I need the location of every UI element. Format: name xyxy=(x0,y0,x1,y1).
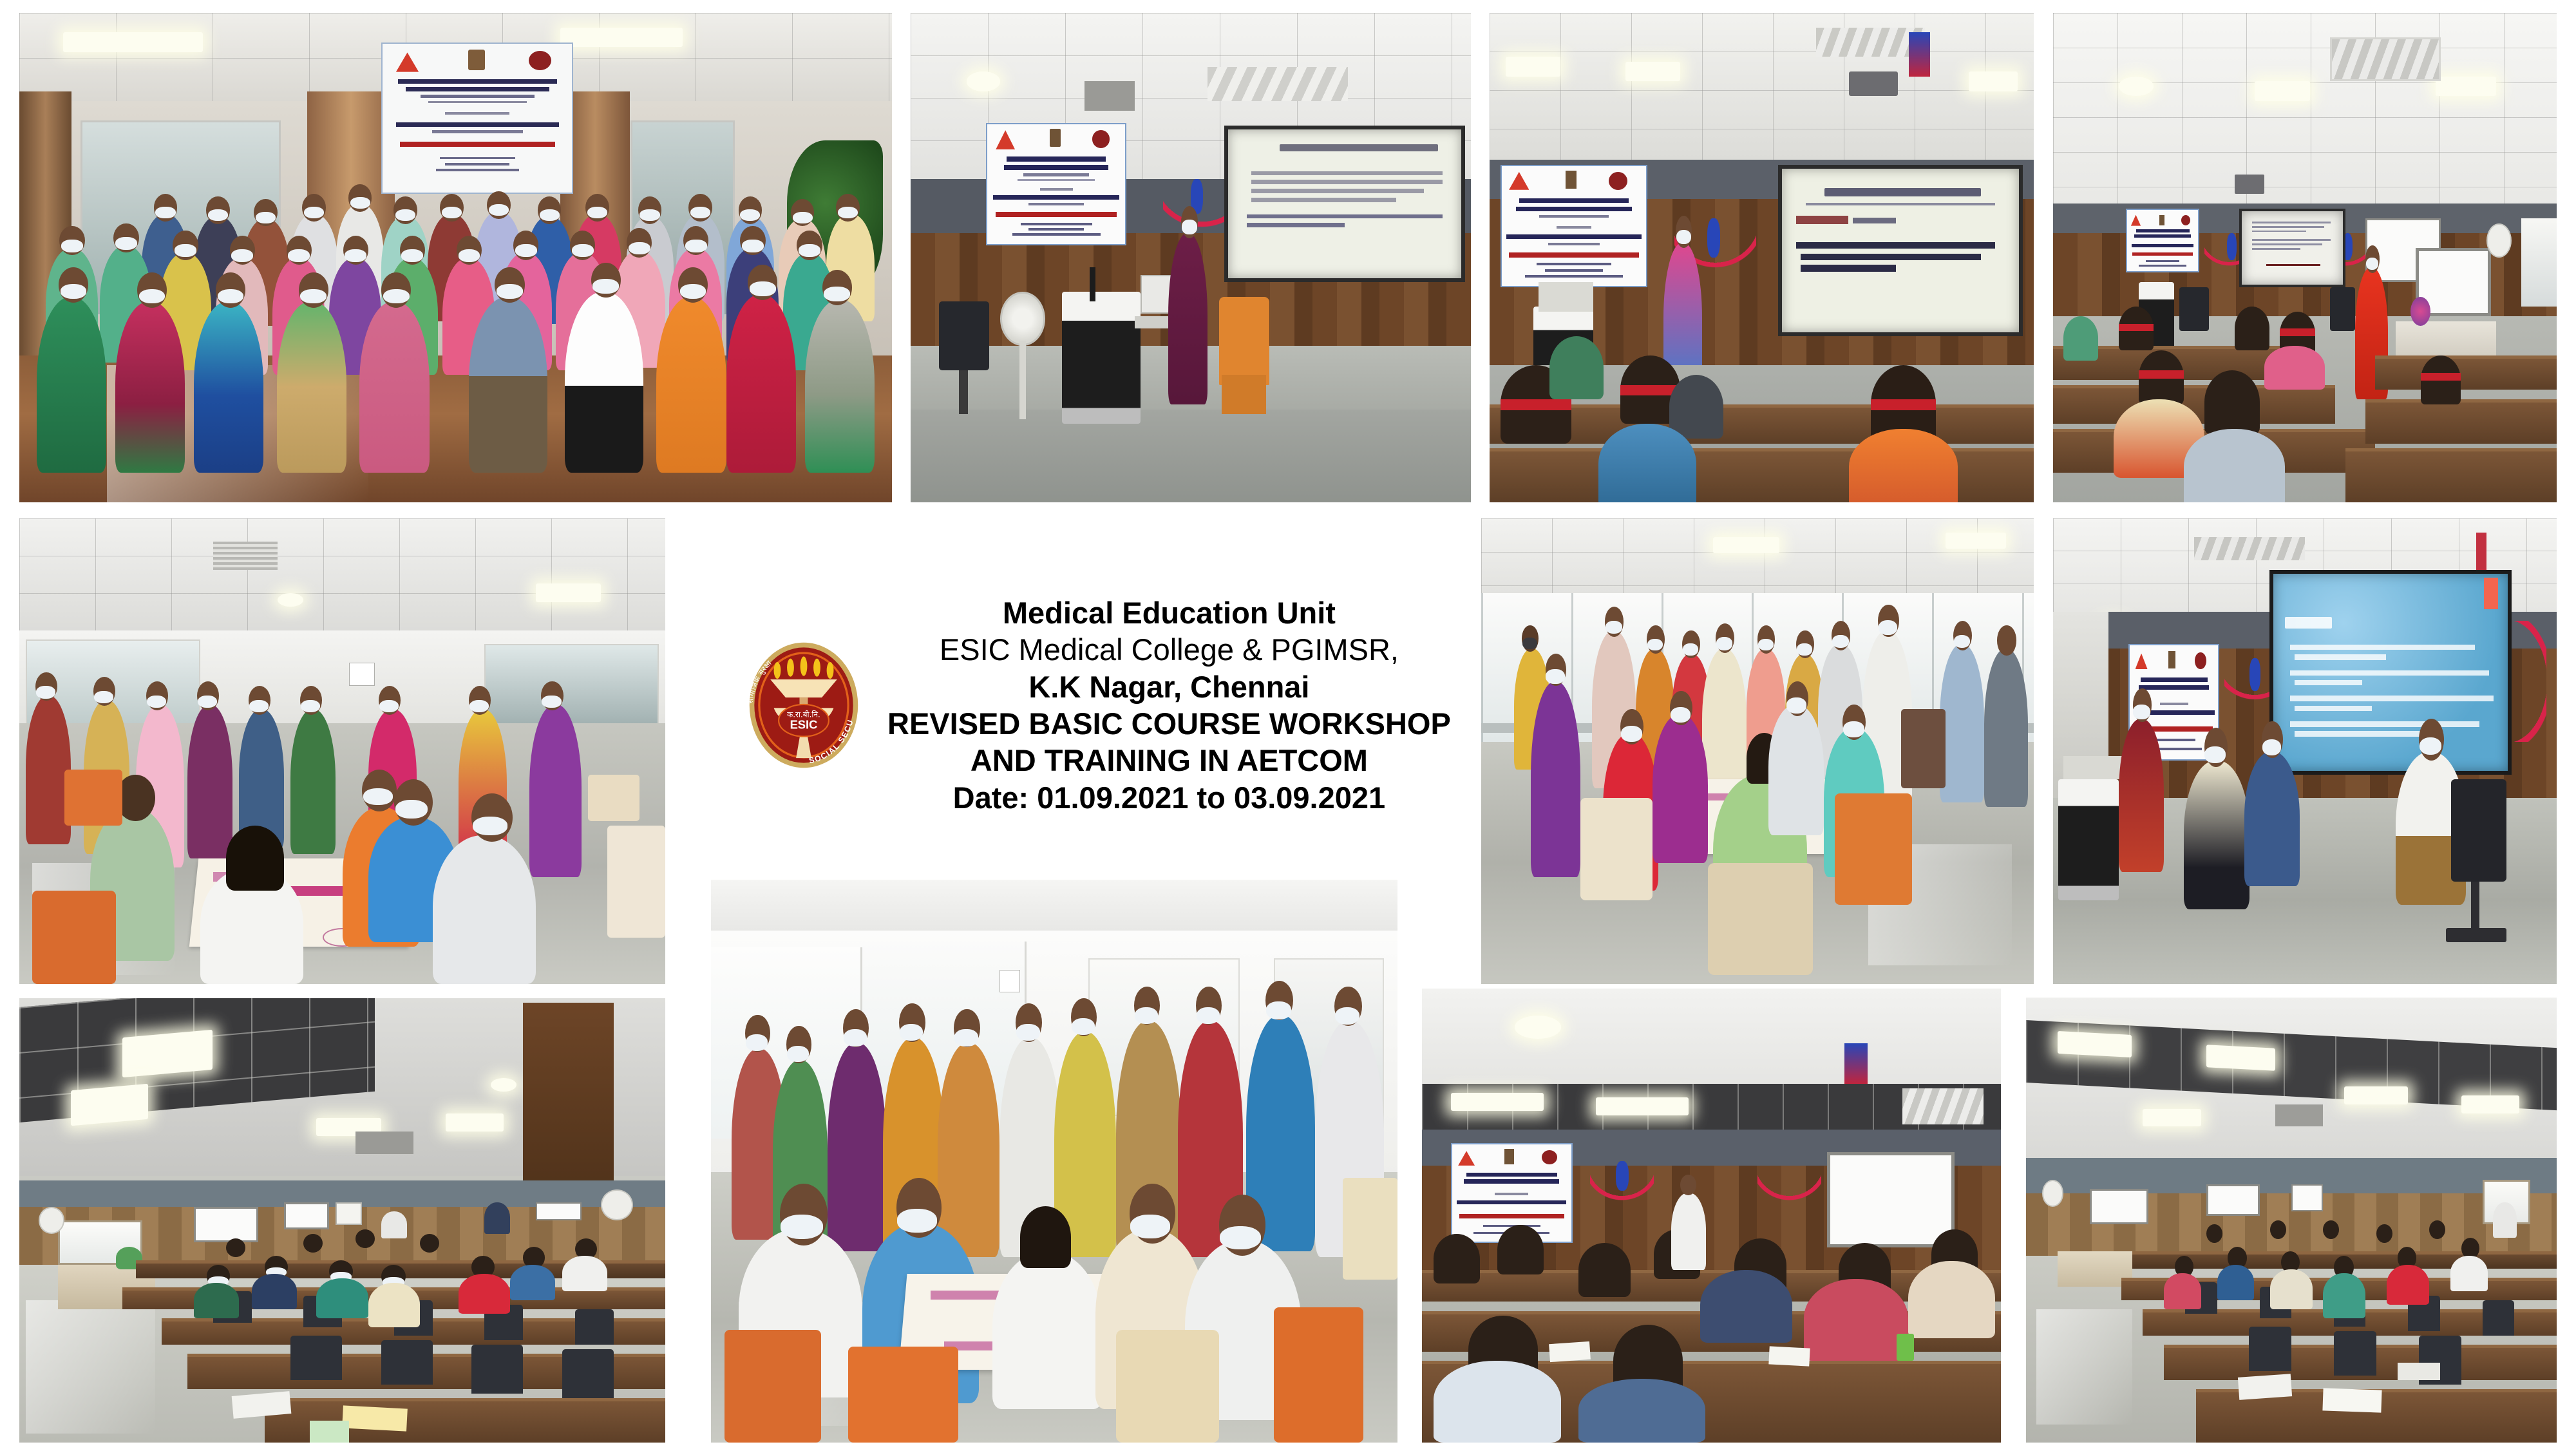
projector xyxy=(1849,71,1898,96)
projection-screen xyxy=(1778,165,2023,336)
presenter xyxy=(1168,233,1207,404)
title-line-1: Medical Education Unit xyxy=(887,594,1451,631)
photo-small-group-left xyxy=(19,518,665,984)
photo-cognitive-domain-talk xyxy=(1490,13,2034,502)
title-line-4: REVISED BASIC COURSE WORKSHOP xyxy=(887,705,1451,742)
photo-panel-summary xyxy=(2053,518,2557,984)
event-banner xyxy=(381,43,573,194)
photo-classroom-right xyxy=(2026,998,2557,1443)
photo-classroom-left xyxy=(19,998,665,1443)
title-block: क.रा.बी.नि. ESIC SOCIAL SECURITY सामाजिक… xyxy=(734,570,1475,840)
moderator xyxy=(2119,719,2164,873)
podium xyxy=(1062,292,1141,424)
logo-acronym: ESIC xyxy=(790,718,818,732)
title-line-3: K.K Nagar, Chennai xyxy=(887,668,1451,705)
title-lines: Medical Education Unit ESIC Medical Coll… xyxy=(887,594,1451,816)
photo-group-work-center xyxy=(711,880,1397,1443)
photo-lecture-hall-wide xyxy=(2053,13,2557,502)
projection-screen xyxy=(1224,126,1465,282)
title-line-2: ESIC Medical College & PGIMSR, xyxy=(887,631,1451,668)
photo-group-photo xyxy=(19,13,892,502)
projection-screen xyxy=(2239,209,2345,287)
projection-screen xyxy=(2269,570,2511,775)
event-banner xyxy=(1501,165,1647,287)
photo-small-group-right xyxy=(1481,518,2034,984)
title-line-5: AND TRAINING IN AETCOM xyxy=(887,742,1451,779)
event-banner xyxy=(986,123,1126,245)
title-line-6: Date: 01.09.2021 to 03.09.2021 xyxy=(887,779,1451,816)
esic-logo: क.रा.बी.नि. ESIC SOCIAL SECURITY सामाजिक… xyxy=(734,636,873,775)
photo-classroom-center-right xyxy=(1422,989,2001,1443)
photo-podium-lecture xyxy=(911,13,1471,502)
photo-collage: क.रा.बी.नि. ESIC SOCIAL SECURITY सामाजिक… xyxy=(0,0,2576,1449)
